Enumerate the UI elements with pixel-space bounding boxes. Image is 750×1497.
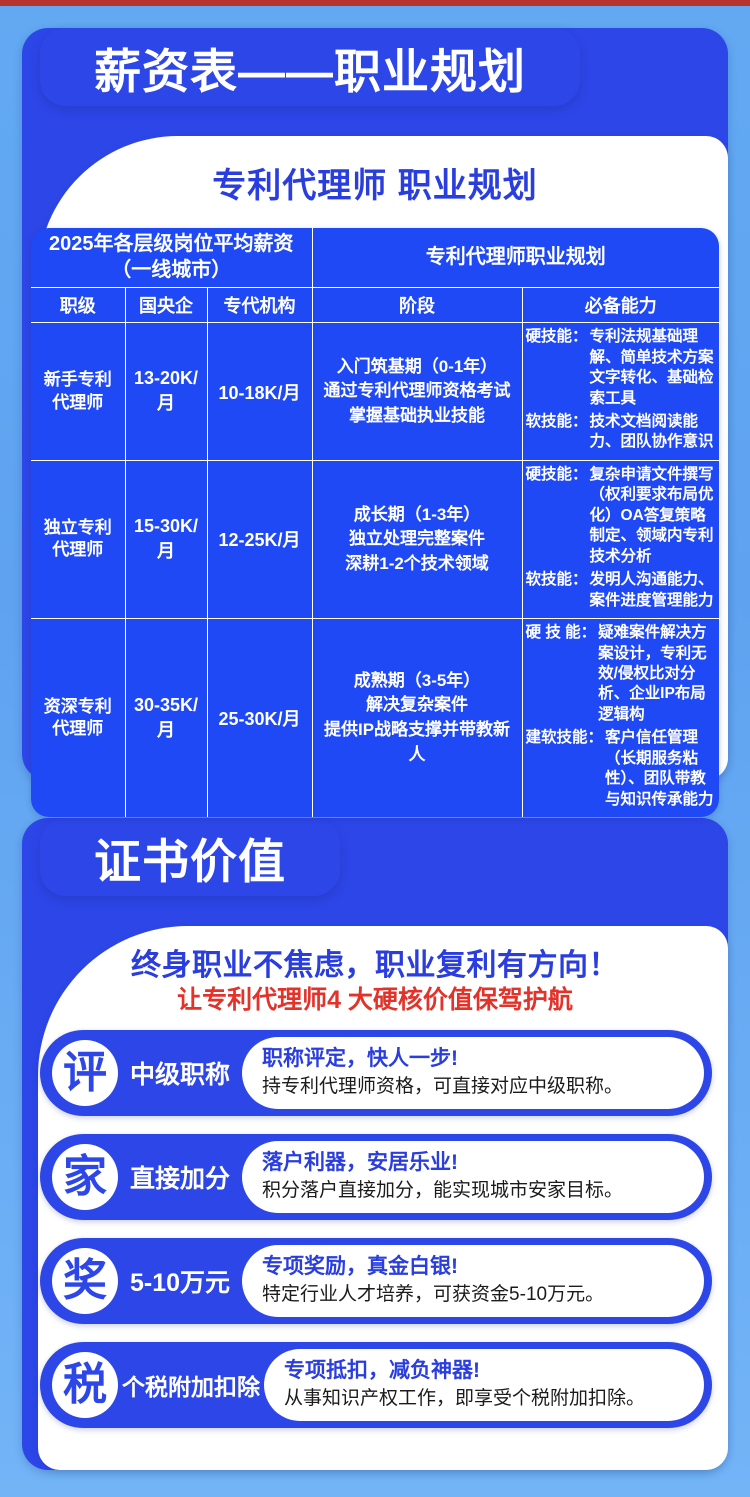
cell-stage-line2: 解决复杂案件: [316, 693, 519, 718]
value-card-bubble-title: 职称评定，快人一步!: [262, 1046, 690, 1073]
hard-skill-label: 硬技能：: [526, 465, 588, 485]
cell-soe-pay: 30-35K/月: [125, 619, 207, 818]
section1-title: 专利代理师 职业规划: [22, 158, 728, 207]
section2-tab: 证书价值: [40, 818, 340, 896]
soft-skill-row: 软技能： 技术文档阅读能力、团队协作意识: [526, 412, 717, 453]
cell-level-line1: 资深专利: [34, 696, 122, 718]
hard-skill-value: 疑难案件解决方案设计，专利无效/侵权比对分析、企业IP布局逻辑构: [596, 623, 716, 725]
cell-stage-line3: 深耕1-2个技术领域: [316, 552, 519, 577]
cell-stage-line1: 成熟期（3-5年）: [316, 669, 519, 694]
group-header-salary: 2025年各层级岗位平均薪资 （一线城市）: [31, 228, 312, 288]
cell-level-line2: 代理师: [34, 392, 122, 414]
cell-soe-pay: 13-20K/月: [125, 323, 207, 461]
top-accent-strip: [0, 0, 750, 6]
section1-tab-label: 薪资表——职业规划: [94, 33, 526, 102]
value-card-title: 个税附加扣除: [118, 1368, 264, 1402]
value-card[interactable]: 奖 5-10万元 专项奖励，真金白银! 特定行业人才培养，可获资金5-10万元。: [40, 1238, 712, 1324]
hard-skill-row: 硬技能： 复杂申请文件撰写（权利要求布局优化）OA答复策略制定、领域内专利技术分…: [526, 465, 717, 567]
hard-skill-label: 硬技能：: [526, 327, 588, 347]
salary-career-section: 薪资表——职业规划 专利代理师 职业规划 2025年各层级岗位平均薪资 （一线城…: [22, 28, 728, 780]
hard-skill-label: 硬 技 能：: [526, 623, 597, 643]
value-card-bubble-text: 积分落户直接加分，能实现城市安家目标。: [262, 1179, 690, 1204]
hard-skill-row: 硬技能： 专利法规基础理解、简单技术方案文字转化、基础检索工具: [526, 327, 717, 409]
table-row: 资深专利 代理师 30-35K/月 25-30K/月 成熟期（3-5年） 解决复…: [31, 619, 719, 818]
shui-badge-icon: 税: [52, 1352, 118, 1418]
soft-skill-value: 发明人沟通能力、案件进度管理能力: [588, 570, 716, 611]
value-card-bubble: 落户利器，安居乐业! 积分落户直接加分，能实现城市安家目标。: [242, 1141, 704, 1213]
col-header-agency: 专代机构: [207, 288, 312, 323]
cell-stage-line1: 成长期（1-3年）: [316, 503, 519, 528]
cell-level: 新手专利 代理师: [31, 323, 125, 461]
cell-stage: 成熟期（3-5年） 解决复杂案件 提供IP战略支撑并带教新人: [312, 619, 522, 818]
col-header-stage: 阶段: [312, 288, 522, 323]
value-card-bubble-text: 特定行业人才培养，可获资金5-10万元。: [262, 1283, 690, 1308]
value-card-bubble: 专项抵扣，减负神器! 从事知识产权工作，即享受个税附加扣除。: [264, 1349, 704, 1421]
value-card-bubble-title: 专项抵扣，减负神器!: [284, 1358, 690, 1385]
hard-skill-row: 硬 技 能： 疑难案件解决方案设计，专利无效/侵权比对分析、企业IP布局逻辑构: [526, 623, 717, 725]
cell-skills: 硬 技 能： 疑难案件解决方案设计，专利无效/侵权比对分析、企业IP布局逻辑构 …: [522, 619, 719, 818]
col-header-skills: 必备能力: [522, 288, 719, 323]
value-card-bubble-title: 专项奖励，真金白银!: [262, 1254, 690, 1281]
cell-level-line2: 代理师: [34, 539, 122, 561]
soft-skill-row: 软技能： 发明人沟通能力、案件进度管理能力: [526, 570, 717, 611]
soft-skill-label: 软技能：: [526, 570, 588, 590]
cell-stage: 入门筑基期（0-1年） 通过专利代理师资格考试 掌握基础执业技能: [312, 323, 522, 461]
table-column-header-row: 职级 国央企 专代机构 阶段 必备能力: [31, 288, 719, 323]
value-card-bubble: 职称评定，快人一步! 持专利代理师资格，可直接对应中级职称。: [242, 1037, 704, 1109]
section2-headline-red: 让专利代理师4 大硬核价值保驾护航: [22, 980, 728, 1016]
cell-level-line1: 独立专利: [34, 517, 122, 539]
cell-stage-line2: 通过专利代理师资格考试: [316, 379, 519, 404]
hard-skill-value: 复杂申请文件撰写（权利要求布局优化）OA答复策略制定、领域内专利技术分析: [588, 465, 716, 567]
cell-level: 独立专利 代理师: [31, 460, 125, 618]
cell-level-line1: 新手专利: [34, 369, 122, 391]
cell-soe-pay: 15-30K/月: [125, 460, 207, 618]
table-row: 新手专利 代理师 13-20K/月 10-18K/月 入门筑基期（0-1年） 通…: [31, 323, 719, 461]
soft-skill-label: 建软技能：: [526, 728, 604, 748]
table-row: 独立专利 代理师 15-30K/月 12-25K/月 成长期（1-3年） 独立处…: [31, 460, 719, 618]
soft-skill-label: 软技能：: [526, 412, 588, 432]
value-card[interactable]: 评 中级职称 职称评定，快人一步! 持专利代理师资格，可直接对应中级职称。: [40, 1030, 712, 1116]
pingjia-badge-icon: 评: [52, 1040, 118, 1106]
section2-tab-label: 证书价值: [94, 823, 286, 892]
cell-stage: 成长期（1-3年） 独立处理完整案件 深耕1-2个技术领域: [312, 460, 522, 618]
section1-tab: 薪资表——职业规划: [40, 28, 580, 106]
certificate-value-section: 证书价值 终身职业不焦虑，职业复利有方向！ 让专利代理师4 大硬核价值保驾护航 …: [22, 818, 728, 1470]
section2-headline-blue: 终身职业不焦虑，职业复利有方向！: [22, 940, 728, 984]
value-card-title: 5-10万元: [118, 1263, 242, 1299]
cell-level-line2: 代理师: [34, 718, 122, 740]
cell-agency-pay: 12-25K/月: [207, 460, 312, 618]
soft-skill-value: 技术文档阅读能力、团队协作意识: [588, 412, 716, 453]
group-header-career: 专利代理师职业规划: [312, 228, 719, 288]
col-header-soe: 国央企: [125, 288, 207, 323]
jiang-badge-icon: 奖: [52, 1248, 118, 1314]
jia-badge-icon: 家: [52, 1144, 118, 1210]
value-card[interactable]: 家 直接加分 落户利器，安居乐业! 积分落户直接加分，能实现城市安家目标。: [40, 1134, 712, 1220]
cell-stage-line3: 提供IP战略支撑并带教新人: [316, 718, 519, 767]
value-card-list: 评 中级职称 职称评定，快人一步! 持专利代理师资格，可直接对应中级职称。 家 …: [40, 1030, 712, 1446]
cell-stage-line1: 入门筑基期（0-1年）: [316, 355, 519, 380]
value-card-bubble-title: 落户利器，安居乐业!: [262, 1150, 690, 1177]
value-card-bubble-text: 持专利代理师资格，可直接对应中级职称。: [262, 1075, 690, 1100]
value-card-bubble: 专项奖励，真金白银! 特定行业人才培养，可获资金5-10万元。: [242, 1245, 704, 1317]
value-card-title: 直接加分: [118, 1159, 242, 1195]
group-header-salary-line1: 2025年各层级岗位平均薪资: [34, 232, 309, 258]
cell-skills: 硬技能： 复杂申请文件撰写（权利要求布局优化）OA答复策略制定、领域内专利技术分…: [522, 460, 719, 618]
soft-skill-value: 客户信任管理（长期服务粘性）、团队带教与知识传承能力: [603, 728, 716, 810]
cell-level: 资深专利 代理师: [31, 619, 125, 818]
cell-stage-line2: 独立处理完整案件: [316, 527, 519, 552]
value-card-bubble-text: 从事知识产权工作，即享受个税附加扣除。: [284, 1387, 690, 1412]
value-card-title: 中级职称: [118, 1055, 242, 1091]
hard-skill-value: 专利法规基础理解、简单技术方案文字转化、基础检索工具: [588, 327, 716, 409]
cell-skills: 硬技能： 专利法规基础理解、简单技术方案文字转化、基础检索工具 软技能： 技术文…: [522, 323, 719, 461]
col-header-level: 职级: [31, 288, 125, 323]
cell-stage-line3: 掌握基础执业技能: [316, 404, 519, 429]
cell-agency-pay: 10-18K/月: [207, 323, 312, 461]
cell-agency-pay: 25-30K/月: [207, 619, 312, 818]
group-header-salary-line2: （一线城市）: [34, 258, 309, 284]
career-salary-table: 2025年各层级岗位平均薪资 （一线城市） 专利代理师职业规划 职级 国央企 专…: [31, 228, 719, 817]
soft-skill-row: 建软技能： 客户信任管理（长期服务粘性）、团队带教与知识传承能力: [526, 728, 717, 810]
value-card[interactable]: 税 个税附加扣除 专项抵扣，减负神器! 从事知识产权工作，即享受个税附加扣除。: [40, 1342, 712, 1428]
table-group-header-row: 2025年各层级岗位平均薪资 （一线城市） 专利代理师职业规划: [31, 228, 719, 288]
